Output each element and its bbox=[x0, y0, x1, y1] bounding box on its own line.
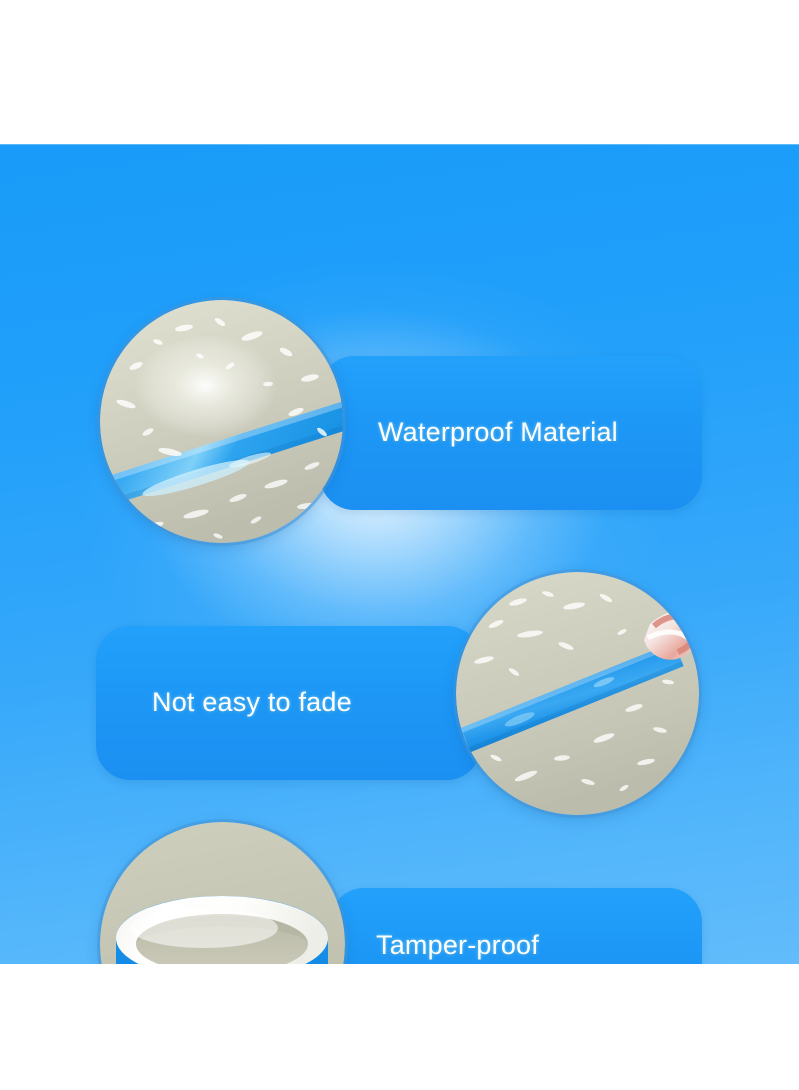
poster-panel: Waterproof Material bbox=[0, 144, 799, 964]
wristband-on-wet-surface-photo bbox=[100, 300, 343, 543]
feature-plate-tamper-proof: Tamper-proof Adhesive Closure bbox=[330, 888, 702, 964]
feature-plate-waterproof: Waterproof Material bbox=[320, 356, 702, 510]
wristband-colorfast-photo bbox=[456, 572, 699, 815]
product-feature-infographic: Waterproof Material bbox=[0, 0, 799, 1090]
feature-label-waterproof: Waterproof Material bbox=[378, 415, 618, 451]
feature-plate-not-easy-to-fade: Not easy to fade bbox=[96, 626, 481, 780]
wristband-adhesive-closure-photo bbox=[100, 822, 345, 964]
feature-label-tamper-proof: Tamper-proof Adhesive Closure bbox=[376, 928, 591, 964]
feature-label-not-easy-to-fade: Not easy to fade bbox=[152, 685, 352, 721]
